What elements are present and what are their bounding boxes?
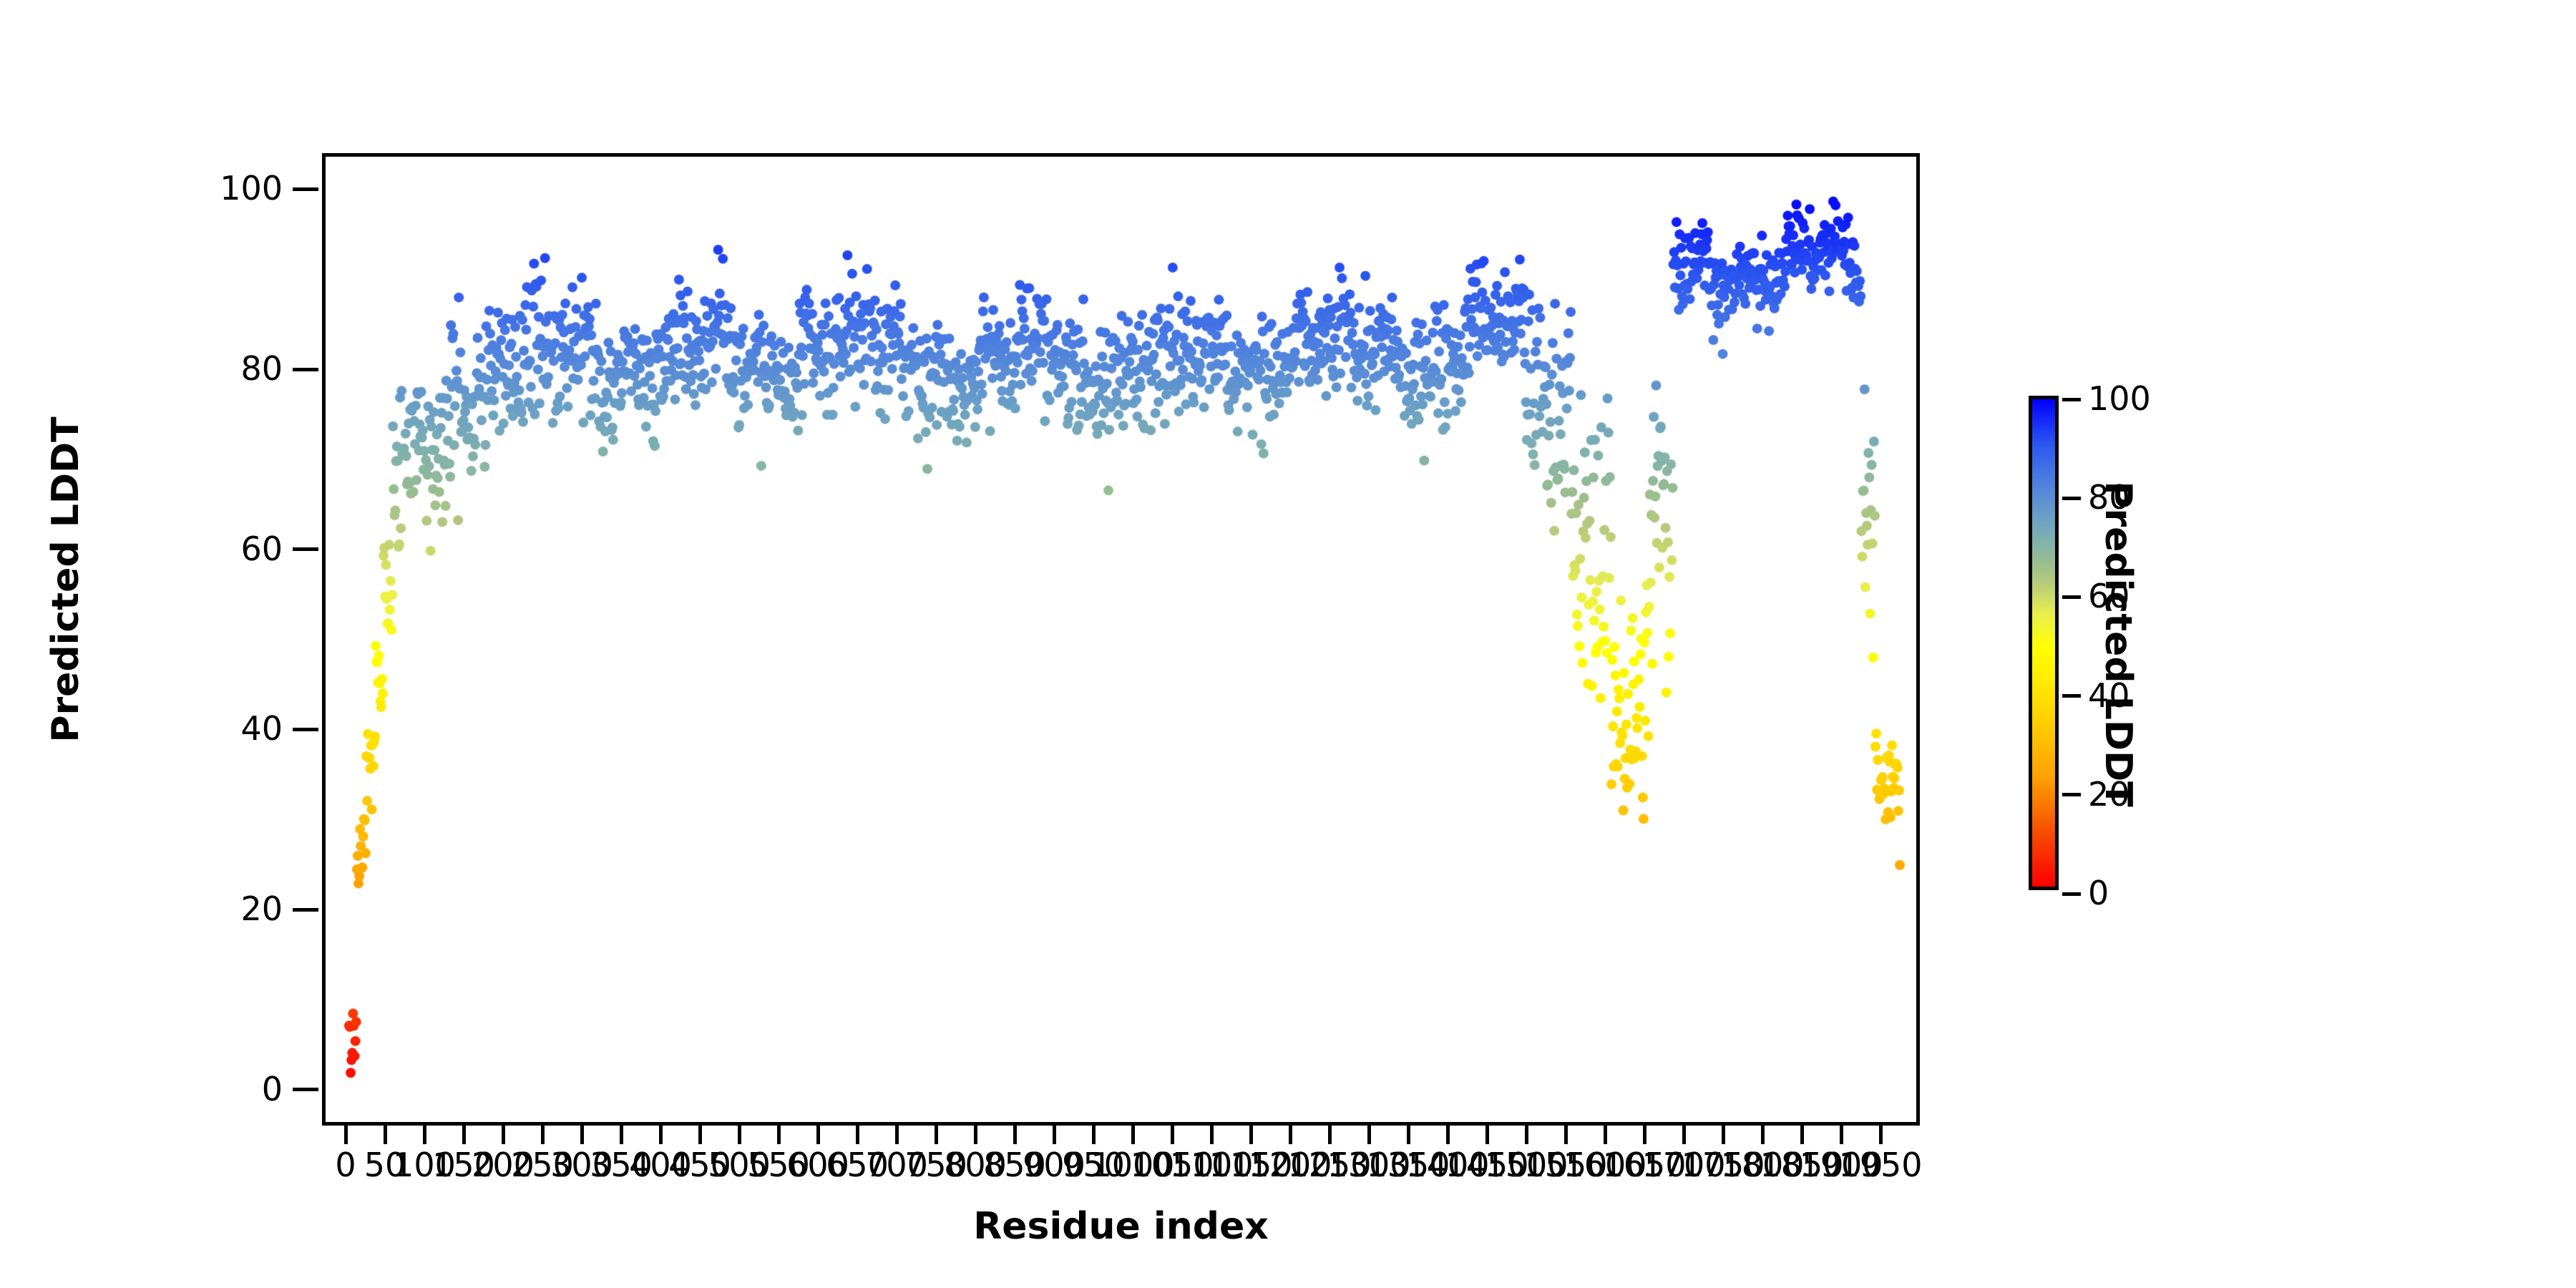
figure-root: 020406080100 Predicted LDDT 050100150200…: [0, 0, 2576, 1288]
x-tick-mark: [816, 1126, 820, 1144]
x-tick-mark: [620, 1126, 623, 1144]
x-tick-mark: [423, 1126, 426, 1144]
x-tick-mark: [1328, 1126, 1332, 1144]
colorbar-tick-mark: [2062, 595, 2081, 599]
x-tick-mark: [1840, 1126, 1843, 1144]
colorbar-tick-mark: [2062, 694, 2081, 698]
x-tick-mark: [659, 1126, 663, 1144]
colorbar-tick-mark: [2062, 892, 2081, 896]
x-tick-mark: [1446, 1126, 1450, 1144]
y-tick-mark: [293, 368, 318, 371]
x-tick-mark: [1604, 1126, 1607, 1144]
x-tick-mark: [1800, 1126, 1804, 1144]
y-tick-label: 40: [179, 712, 283, 745]
y-axis-title: Predicted LDDT: [44, 329, 87, 830]
x-tick-mark: [1485, 1126, 1489, 1144]
plot-area: [322, 153, 1920, 1126]
colorbar-tick-label: 100: [2088, 382, 2151, 415]
x-tick-mark: [1682, 1126, 1686, 1144]
y-tick-mark: [293, 547, 318, 551]
x-tick-mark: [738, 1126, 741, 1144]
x-tick-mark: [1210, 1126, 1214, 1144]
x-axis-title: Residue index: [322, 1205, 1920, 1248]
y-tick-mark: [293, 728, 318, 731]
colorbar-title: Predicted LDDT: [2097, 422, 2140, 866]
x-tick-mark: [384, 1126, 387, 1144]
x-tick-mark: [580, 1126, 584, 1144]
x-tick-mark: [1092, 1126, 1096, 1144]
x-tick-mark: [502, 1126, 505, 1144]
colorbar: 020406080100: [2029, 396, 2059, 890]
x-tick-mark: [777, 1126, 781, 1144]
x-tick-mark: [1289, 1126, 1292, 1144]
colorbar-gradient: 020406080100: [2029, 396, 2059, 890]
y-tick-mark: [293, 1088, 318, 1091]
y-tick-label: 20: [179, 892, 283, 925]
x-tick-mark: [1367, 1126, 1371, 1144]
x-tick-mark: [1249, 1126, 1253, 1144]
x-tick-mark: [1564, 1126, 1568, 1144]
y-tick-label: 60: [179, 532, 283, 565]
y-tick-mark: [293, 187, 318, 191]
colorbar-tick-mark: [2062, 793, 2081, 796]
x-tick-label: 1950: [1809, 1148, 1952, 1181]
x-tick-mark: [1407, 1126, 1410, 1144]
x-tick-mark: [1643, 1126, 1646, 1144]
x-tick-mark: [1013, 1126, 1017, 1144]
x-tick-mark: [698, 1126, 702, 1144]
y-tick-label: 100: [179, 172, 283, 205]
x-tick-mark: [895, 1126, 899, 1144]
x-tick-mark: [1722, 1126, 1725, 1144]
x-tick-mark: [344, 1126, 348, 1144]
x-tick-mark: [1525, 1126, 1528, 1144]
x-tick-mark: [541, 1126, 545, 1144]
x-tick-mark: [1879, 1126, 1883, 1144]
colorbar-tick-mark: [2062, 398, 2081, 401]
x-tick-mark: [1053, 1126, 1056, 1144]
scatter-plot-canvas: [326, 157, 1916, 1122]
colorbar-tick-mark: [2062, 497, 2081, 500]
x-tick-mark: [462, 1126, 466, 1144]
x-tick-mark: [974, 1126, 977, 1144]
y-tick-label: 0: [179, 1073, 283, 1106]
x-tick-mark: [1761, 1126, 1765, 1144]
x-tick-mark: [856, 1126, 859, 1144]
x-tick-mark: [1131, 1126, 1135, 1144]
x-tick-mark: [935, 1126, 938, 1144]
y-tick-mark: [293, 908, 318, 912]
x-tick-mark: [1171, 1126, 1174, 1144]
colorbar-tick-label: 0: [2088, 877, 2109, 909]
y-tick-label: 80: [179, 352, 283, 385]
